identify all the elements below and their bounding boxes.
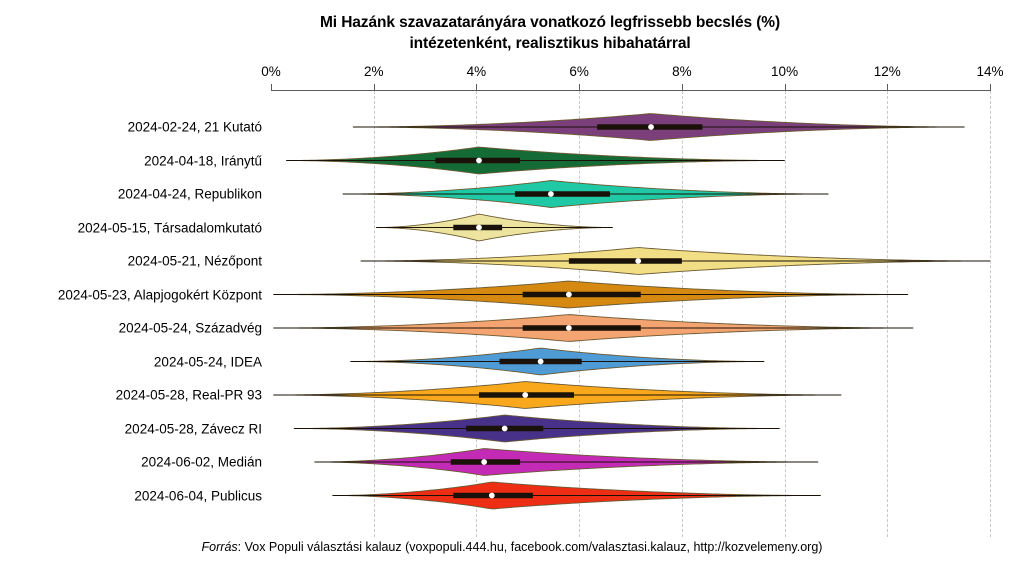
violin-row-9: [294, 415, 779, 442]
violin-row-10: [315, 449, 818, 476]
median-dot: [648, 124, 654, 130]
median-dot: [566, 325, 572, 331]
source-note: Forrás: Vox Populi választási kalauz (vo…: [0, 540, 1024, 554]
violin-row-1: [286, 147, 784, 174]
violin-row-3: [376, 214, 612, 241]
median-dot: [502, 426, 508, 432]
violin-row-4: [361, 248, 990, 275]
median-dot: [566, 292, 572, 298]
median-dot: [489, 493, 495, 499]
source-text: : Vox Populi választási kalauz (voxpopul…: [238, 540, 823, 554]
violin-row-11: [333, 482, 821, 509]
violin-series-group: [0, 0, 1024, 582]
median-dot: [481, 459, 487, 465]
median-dot: [476, 158, 482, 164]
violin-row-8: [274, 382, 841, 409]
source-prefix: Forrás: [202, 540, 238, 554]
median-dot: [476, 225, 482, 231]
violin-row-6: [274, 315, 913, 342]
median-dot: [538, 359, 544, 365]
median-dot: [548, 191, 554, 197]
median-dot: [522, 392, 528, 398]
violin-row-7: [351, 348, 764, 375]
violin-row-5: [274, 281, 908, 308]
median-dot: [635, 258, 641, 264]
chart-container: Mi Hazánk szavazatarányára vonatkozó leg…: [0, 0, 1024, 582]
violin-row-0: [353, 114, 964, 141]
violin-row-2: [343, 181, 828, 208]
